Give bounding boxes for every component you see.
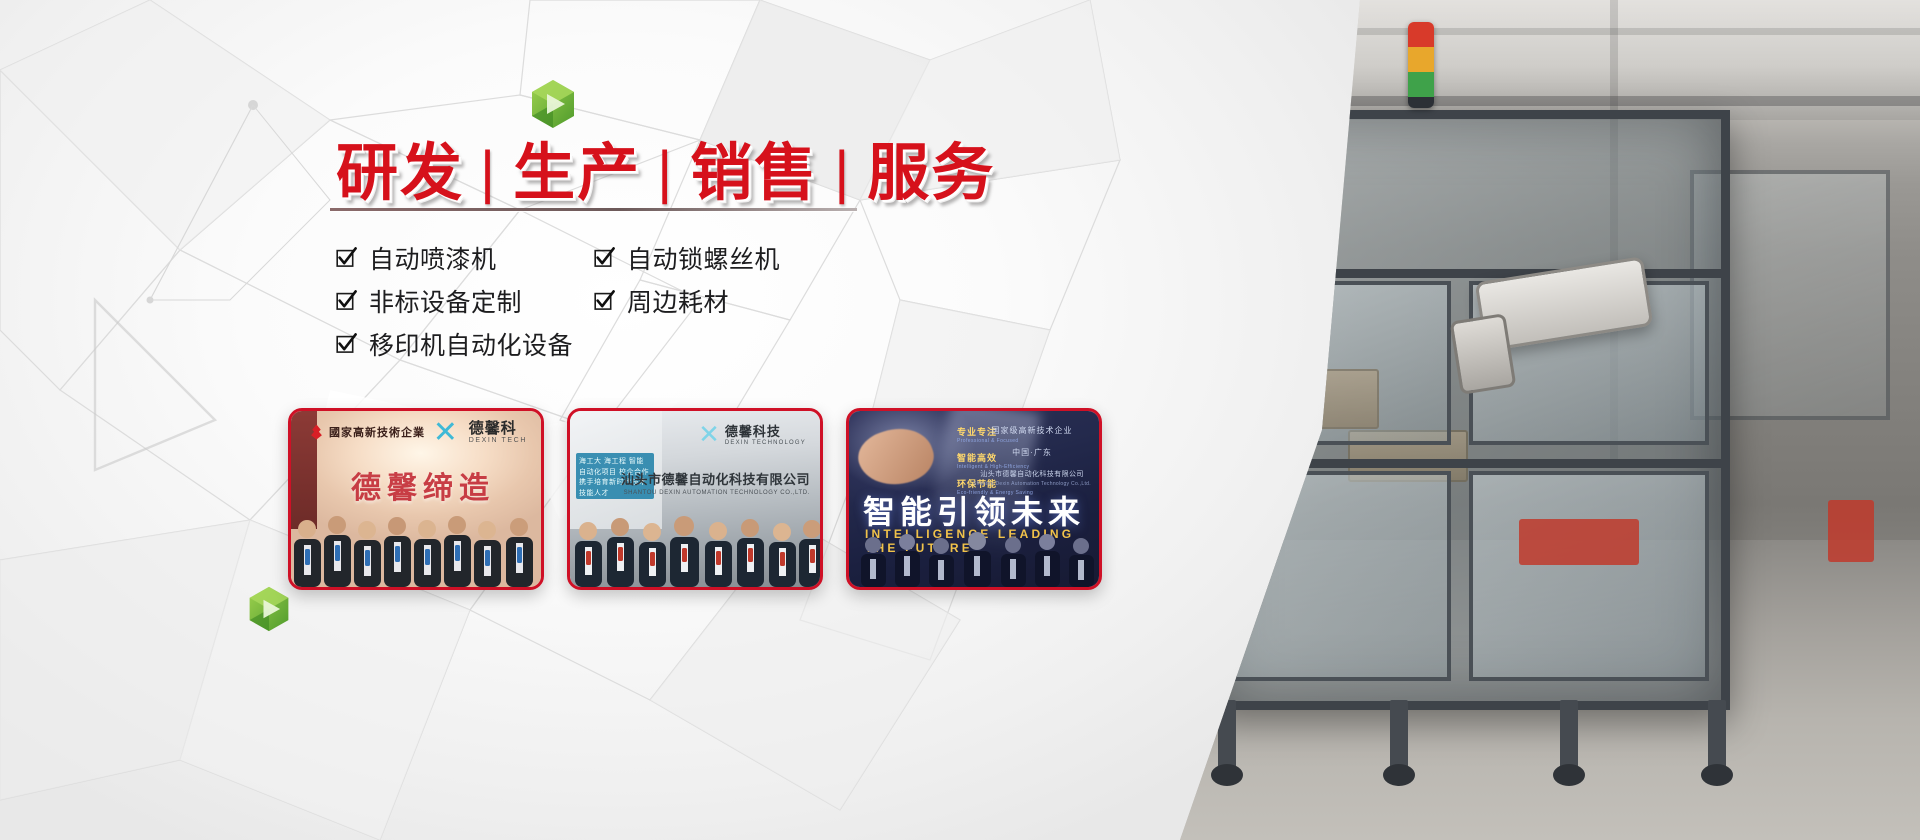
card2-people-group [570,513,820,587]
dexin-x-icon: ✕ [698,423,720,445]
dexin-x-icon: ✕ [433,420,463,446]
checkbox-checked-icon [594,247,615,268]
feature-item-consumables: 周边耗材 [594,283,854,319]
feature-row: 移印机自动化设备 [336,322,876,365]
card2-company-cn: 汕头市德馨自动化科技有限公司 [621,469,810,488]
card3-right-line2: 中国·广东 [973,447,1091,458]
banner-stage: 研发 | 生产 | 销售 | 服务 自动喷漆机 [0,0,1920,840]
photo-card-row: 國家高新技術企業 ✕ 德馨科 DEXIN TECH 德馨缔造 [288,408,1102,590]
robot-head [1450,313,1517,395]
feature-row: 自动喷漆机 自动锁螺丝机 [336,236,876,279]
card1-brand-cn: 德馨科 [469,421,527,437]
headline-word-3: 销售 [684,122,824,212]
checkbox-checked-icon [336,290,357,311]
card2-logo: ✕ 德馨科技 DEXIN TECHNOLOGY [698,421,806,446]
card1-badge-text: 國家高新技術企業 [329,424,425,440]
headline-word-1: 研发 [330,122,470,212]
flame-icon [309,425,324,440]
headline-word-4: 服务 [861,122,1001,212]
headline-word-2: 生产 [507,122,647,212]
card2-company: 汕头市德馨自动化科技有限公司 SHANTOU DEXIN AUTOMATION … [621,469,810,496]
card-team-photo[interactable]: 海工大 海工程 智能自动化项目 校企合作 携手培育新时代技术技能人才 ✕ 德馨科… [567,408,823,590]
headline: 研发 | 生产 | 销售 | 服务 [330,122,1001,212]
feature-row: 非标设备定制 周边耗材 [336,279,876,322]
feature-item-pad-printer: 移印机自动化设备 [336,326,573,362]
checkbox-checked-icon [336,333,357,354]
card1-logo: ✕ 德馨科 DEXIN TECH [433,420,527,446]
headline-separator-1: | [470,139,507,206]
feature-label: 自动喷漆机 [369,240,497,276]
feature-item-auto-screw: 自动锁螺丝机 [594,240,854,276]
card1-badge: 國家高新技術企業 [309,424,425,440]
card3-right-line1: 国家级高新技术企业 [973,425,1091,436]
feature-list: 自动喷漆机 自动锁螺丝机 [336,236,876,365]
tower-signal-light [1408,22,1434,108]
checkbox-checked-icon [594,290,615,311]
card2-company-en: SHANTOU DEXIN AUTOMATION TECHNOLOGY CO.,… [621,490,810,496]
feature-label: 移印机自动化设备 [369,326,573,362]
card-intelligence-stage[interactable]: 专业专注 Professional & Focused 智能高效 Intelli… [846,408,1102,590]
card3-right-line3: 汕头市德馨自动化科技有限公司 [973,469,1091,479]
checkbox-checked-icon [336,247,357,268]
card3-right-info: 国家级高新技术企业 中国·广东 汕头市德馨自动化科技有限公司 Shantou D… [973,425,1091,487]
feature-label: 非标设备定制 [369,283,522,319]
card2-brand-en: DEXIN TECHNOLOGY [725,440,806,446]
card1-brand-en: DEXIN TECH [469,437,527,444]
card2-brand-cn: 德馨科技 [725,421,806,440]
card-exhibition-booth[interactable]: 國家高新技術企業 ✕ 德馨科 DEXIN TECH 德馨缔造 [288,408,544,590]
headline-separator-3: | [824,139,861,206]
card1-slogan: 德馨缔造 [351,463,495,507]
feature-label: 周边耗材 [627,283,729,319]
feature-label: 自动锁螺丝机 [627,240,780,276]
feature-item-auto-spray: 自动喷漆机 [336,240,594,276]
card3-people-group [849,529,1099,587]
feature-item-custom-equipment: 非标设备定制 [336,283,594,319]
headline-divider [330,208,857,211]
card1-people-group [291,509,541,587]
headline-separator-2: | [647,139,684,206]
